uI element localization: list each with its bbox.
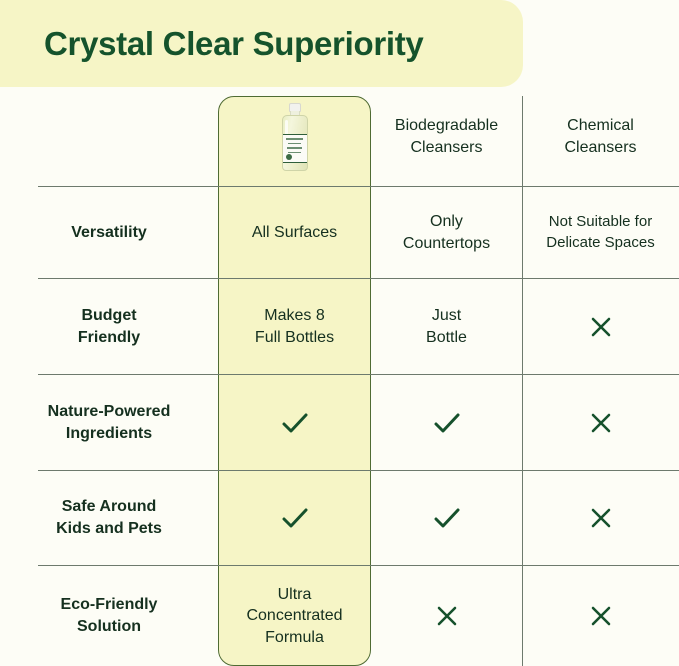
value-line1: Not Suitable for [546, 212, 654, 232]
column-header-bio-line2: Cleansers [395, 137, 498, 159]
value-line2: Bottle [426, 327, 467, 349]
value-line1: Ultra [246, 584, 342, 606]
feature-cell: Nature-Powered Ingredients [0, 375, 218, 470]
feature-label-line2: Ingredients [48, 423, 171, 445]
table-row: Budget Friendly Makes 8 Full Bottles Jus… [0, 279, 679, 374]
column-header-chem-line1: Chemical [564, 115, 636, 137]
check-icon [278, 408, 312, 438]
value-line1: Just [426, 305, 467, 327]
column-header-bio-line1: Biodegradable [395, 115, 498, 137]
feature-label-line1: Versatility [71, 222, 147, 244]
cross-icon [587, 313, 615, 341]
product-value-cell [218, 471, 371, 565]
value-line3: Formula [246, 627, 342, 649]
cross-icon [587, 504, 615, 532]
product-value-cell [218, 375, 371, 470]
chem-value-cell [522, 279, 679, 374]
cross-icon [433, 602, 461, 630]
bottle-label-icon [283, 134, 307, 163]
feature-cell: Eco-Friendly Solution [0, 566, 218, 666]
header-cell-empty [0, 87, 218, 187]
bio-value-cell [371, 375, 522, 470]
check-icon [278, 503, 312, 533]
bio-value-cell: Only Countertops [371, 187, 522, 278]
feature-label-line1: Safe Around [56, 496, 162, 518]
column-header-chem-line2: Cleansers [564, 137, 636, 159]
comparison-table: Biodegradable Cleansers Chemical Cleanse… [0, 87, 679, 666]
feature-cell: Versatility [0, 187, 218, 278]
table-row: Nature-Powered Ingredients [0, 375, 679, 470]
header-cell-chemical: Chemical Cleansers [522, 87, 679, 187]
bio-value-cell [371, 471, 522, 565]
feature-label-line1: Eco-Friendly [61, 594, 158, 616]
table-row: Eco-Friendly Solution Ultra Concentrated… [0, 566, 679, 666]
bottle-product-icon [280, 103, 310, 171]
value-line2: Full Bottles [255, 327, 334, 349]
feature-label-line2: Kids and Pets [56, 518, 162, 540]
cross-icon [587, 602, 615, 630]
title-banner: Crystal Clear Superiority [0, 0, 523, 87]
cross-icon [587, 409, 615, 437]
chem-value-cell [522, 566, 679, 666]
feature-label-line1: Budget [78, 305, 140, 327]
table-row: Versatility All Surfaces Only Countertop… [0, 187, 679, 278]
value-line2: Countertops [403, 233, 490, 255]
header-cell-product [218, 87, 371, 187]
product-value-cell: Ultra Concentrated Formula [218, 566, 371, 666]
bottle-label-line [286, 138, 303, 140]
table-row: Safe Around Kids and Pets [0, 471, 679, 565]
product-value-cell: All Surfaces [218, 187, 371, 278]
bottle-label-line [287, 147, 302, 149]
value-line2: Concentrated [246, 605, 342, 627]
chem-value-cell [522, 375, 679, 470]
chem-value-cell [522, 471, 679, 565]
chem-value-cell: Not Suitable for Delicate Spaces [522, 187, 679, 278]
value-line1: Makes 8 [255, 305, 334, 327]
check-icon [430, 503, 464, 533]
value-line2: Delicate Spaces [546, 233, 654, 253]
product-value-cell: Makes 8 Full Bottles [218, 279, 371, 374]
bio-value-cell: Just Bottle [371, 279, 522, 374]
header-cell-biodegradable: Biodegradable Cleansers [371, 87, 522, 187]
value-line1: Only [403, 211, 490, 233]
feature-label-line2: Friendly [78, 327, 140, 349]
feature-cell: Budget Friendly [0, 279, 218, 374]
value-line1: All Surfaces [252, 222, 337, 244]
feature-label-line1: Nature-Powered [48, 401, 171, 423]
feature-label-line2: Solution [61, 616, 158, 638]
bio-value-cell [371, 566, 522, 666]
table-header-row: Biodegradable Cleansers Chemical Cleanse… [0, 87, 679, 187]
check-icon [430, 408, 464, 438]
bottle-label-line [288, 143, 301, 145]
bottle-label-line [288, 152, 301, 154]
bottle-seal-icon [286, 154, 292, 160]
page-title: Crystal Clear Superiority [44, 25, 423, 63]
feature-cell: Safe Around Kids and Pets [0, 471, 218, 565]
